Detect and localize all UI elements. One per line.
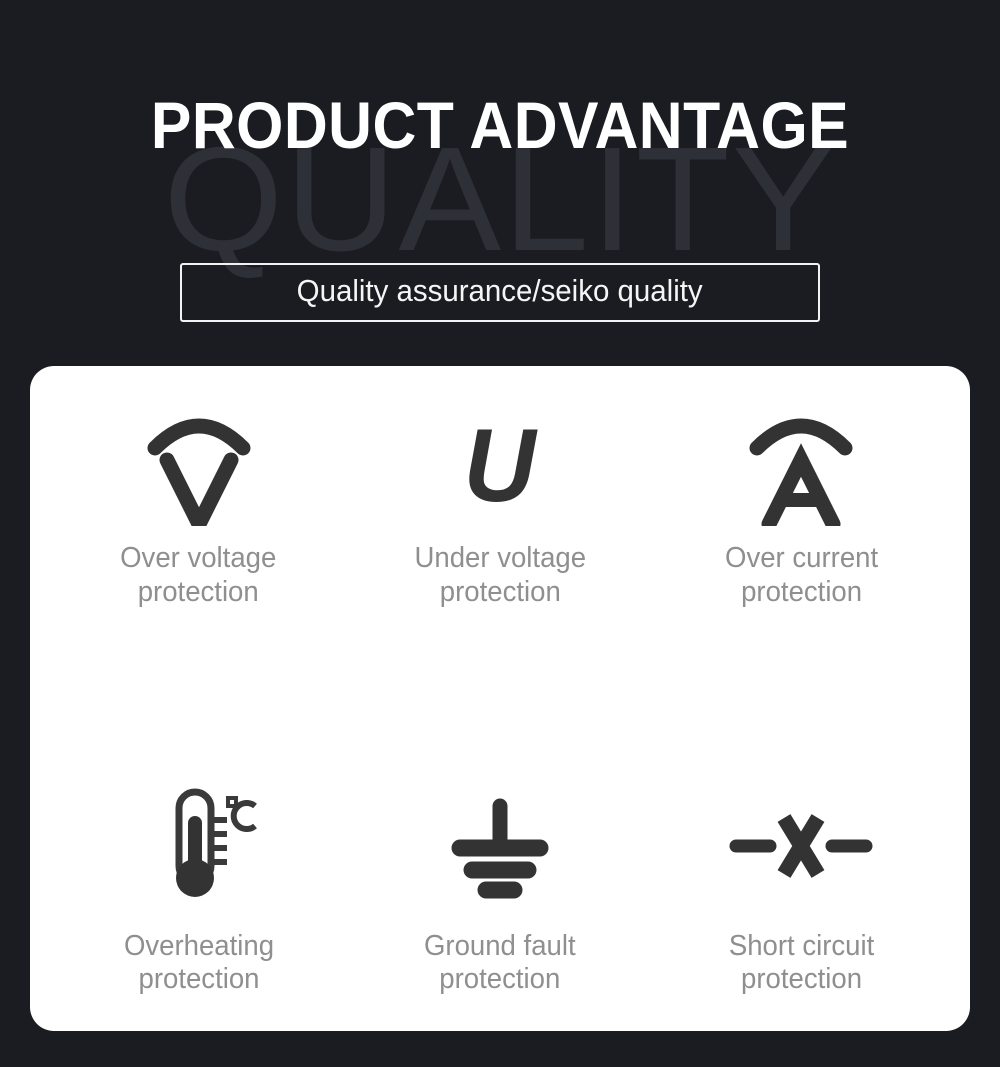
feature-label: Under voltage protection <box>414 542 586 609</box>
feature-label: Overheating protection <box>124 930 274 997</box>
icon-container <box>726 788 876 910</box>
icon-container <box>436 788 564 910</box>
ground-earth-icon <box>436 790 564 907</box>
header: QUALITY PRODUCT ADVANTAGE Quality assura… <box>0 0 1000 340</box>
feature-row-top: Over voltage protection U Under voltage … <box>48 406 952 609</box>
icon-container: U <box>462 406 537 528</box>
features-card: Over voltage protection U Under voltage … <box>30 366 970 1031</box>
feature-over-voltage: Over voltage protection <box>48 406 349 609</box>
feature-under-voltage: U Under voltage protection <box>349 406 650 609</box>
icon-container <box>135 788 263 910</box>
subtitle-box: Quality assurance/seiko quality <box>180 263 820 322</box>
thermometer-icon <box>135 782 263 915</box>
feature-label-line1: Overheating <box>124 930 274 962</box>
feature-label: Over voltage protection <box>121 542 277 609</box>
over-current-icon <box>741 408 861 526</box>
feature-label-line2: protection <box>439 576 560 608</box>
feature-label: Over current protection <box>725 542 878 609</box>
icon-container <box>139 406 259 528</box>
subtitle-container: Quality assurance/seiko quality <box>0 263 1000 322</box>
feature-label-line2: protection <box>741 576 862 608</box>
feature-row-bottom: Overheating protection Ground fault prot <box>48 788 952 997</box>
feature-label-line2: protection <box>439 963 560 995</box>
feature-short-circuit: Short circuit protection <box>651 788 952 997</box>
feature-ground-fault: Ground fault protection <box>349 788 650 997</box>
feature-label-line1: Short circuit <box>729 930 874 962</box>
feature-label: Short circuit protection <box>729 930 874 997</box>
feature-label-line2: protection <box>138 576 259 608</box>
feature-label-line2: protection <box>741 963 862 995</box>
page-title: PRODUCT ADVANTAGE <box>40 92 960 158</box>
feature-label-line1: Under voltage <box>414 542 586 574</box>
feature-label-line1: Over voltage <box>121 542 277 574</box>
short-circuit-icon <box>726 798 876 899</box>
over-voltage-icon <box>139 408 259 526</box>
subtitle-text: Quality assurance/seiko quality <box>297 275 703 308</box>
feature-label-line2: protection <box>138 963 259 995</box>
icon-container <box>741 406 861 528</box>
feature-label-line1: Over current <box>725 542 878 574</box>
feature-label-line1: Ground fault <box>424 930 576 962</box>
feature-over-current: Over current protection <box>651 406 952 609</box>
feature-overheating: Overheating protection <box>48 788 349 997</box>
feature-label: Ground fault protection <box>424 930 576 997</box>
under-voltage-icon: U <box>464 421 536 513</box>
